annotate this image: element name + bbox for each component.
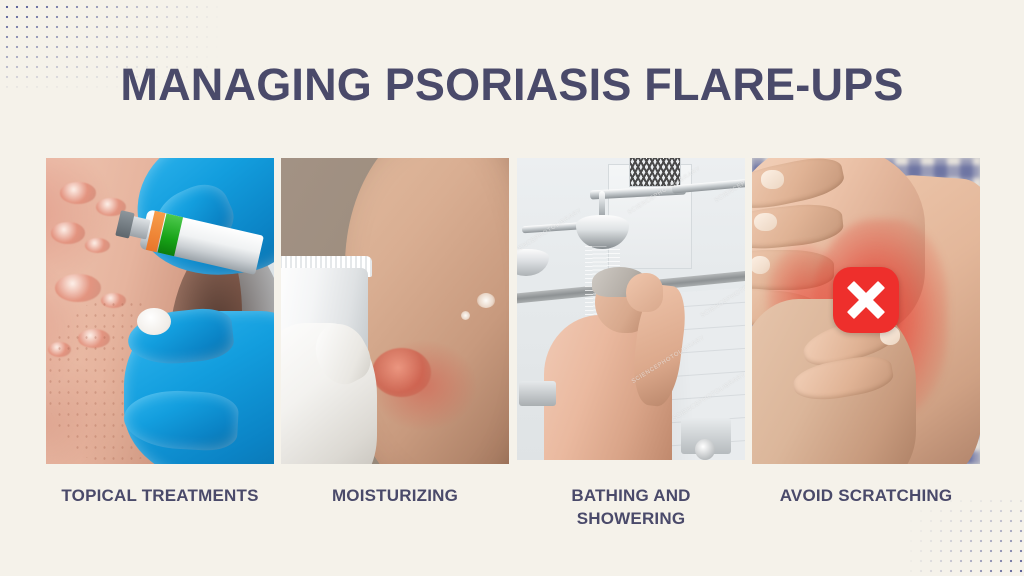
image-panel-row: SCIENCEPHOTOLIBRARY SCIENCEPHOTOLIBRARY …: [46, 158, 978, 464]
elbow-psoriasis-patch: [372, 348, 431, 397]
psoriasis-plaque: [51, 222, 85, 243]
scene-shower: SCIENCEPHOTOLIBRARY SCIENCEPHOTOLIBRARY …: [517, 158, 745, 460]
page-title: MANAGING PSORIASIS FLARE-UPS: [0, 62, 1024, 107]
image-panel-moisturizing: [281, 158, 509, 464]
shower-faucet: [519, 381, 555, 405]
bather-hand: [626, 273, 662, 312]
caption-row: TOPICAL TREATMENTS MOISTURIZING BATHING …: [46, 484, 978, 554]
image-panel-bathing-and-showering: SCIENCEPHOTOLIBRARY SCIENCEPHOTOLIBRARY …: [517, 158, 745, 460]
caption-moisturizing: MOISTURIZING: [281, 484, 509, 507]
caption-avoid-scratching: AVOID SCRATCHING: [752, 484, 980, 507]
psoriasis-plaque: [85, 238, 110, 253]
caption-topical-treatments: TOPICAL TREATMENTS: [46, 484, 274, 507]
caption-bathing-and-showering: BATHING AND SHOWERING: [517, 484, 745, 530]
fingernail: [761, 170, 784, 188]
psoriasis-plaque: [55, 274, 101, 302]
skin-scale-fleck: [477, 293, 495, 308]
image-panel-topical-treatments: [46, 158, 274, 464]
scene-topical-treatment: [46, 158, 274, 464]
scene-moisturizing: [281, 158, 509, 464]
infographic-poster: MANAGING PSORIASIS FLARE-UPS: [0, 0, 1024, 576]
fingernail: [754, 213, 777, 231]
psoriasis-plaque: [60, 182, 96, 203]
x-mark-icon: [833, 267, 899, 333]
scene-avoid-scratching: [752, 158, 980, 464]
image-panel-avoid-scratching: [752, 158, 980, 464]
